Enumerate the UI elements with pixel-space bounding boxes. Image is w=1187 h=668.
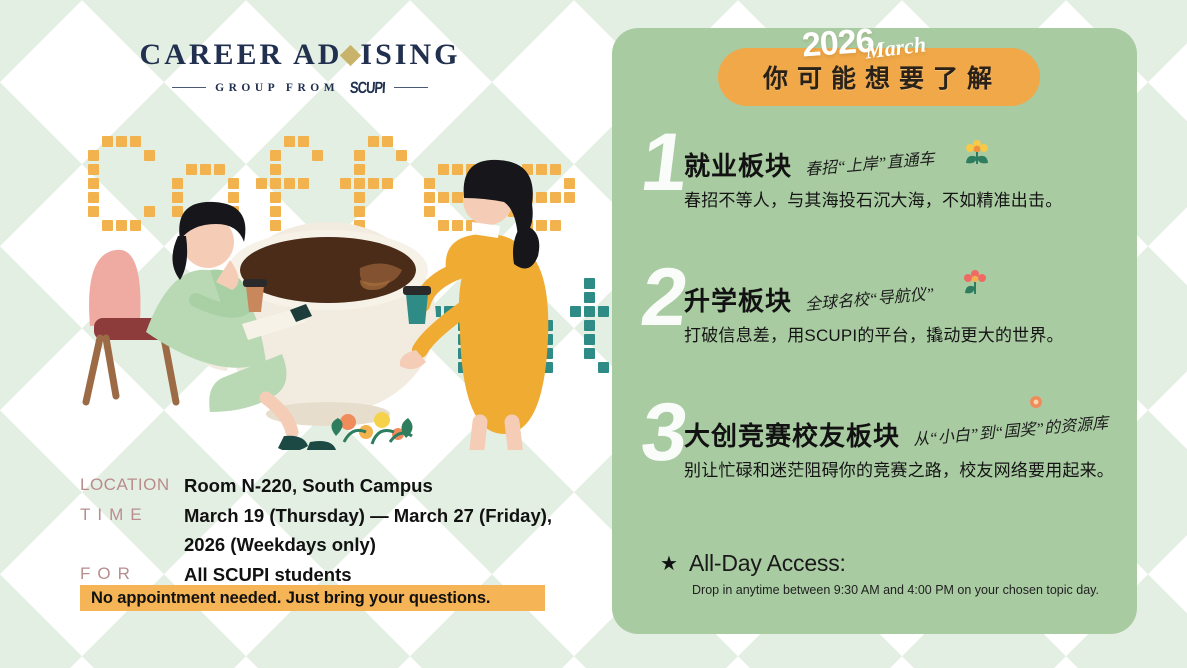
left-column: CAREER AD ISING GROUP FROM SCUPI [0,0,600,668]
info-label-location: LOCATION [80,472,184,498]
topic-title-3: 大创竞赛校友板块 [684,416,900,453]
logo-wordmark: CAREER AD ISING [140,38,461,72]
topic-desc-3: 别让忙碌和迷茫阻碍你的竞赛之路，校友网络要用起来。 [684,456,1114,481]
topic-head-1: 就业板块 春招“上岸”直通车 [684,146,936,183]
logo-text-right: ISING [360,38,460,72]
logo-subtitle: GROUP FROM [215,82,339,94]
red-flower-icon [962,269,988,295]
brand-logo: CAREER AD ISING GROUP FROM SCUPI [0,38,600,95]
info-value-time: March 19 (Thursday) — March 27 (Friday),… [184,502,580,559]
panel-title: 你可能想要了解 [763,59,1001,95]
topic-tag-3: 从“小白”到“国奖”的资源库 [912,409,1109,450]
topic-head-3: 大创竞赛校友板块 从“小白”到“国奖”的资源库 [684,416,1110,453]
logo-subtitle-row: GROUP FROM SCUPI [0,80,600,95]
divider-left [172,87,206,88]
diamond-icon [340,44,361,65]
access-title-row: ★ All-Day Access: [660,550,1110,577]
event-info: LOCATION Room N-220, South Campus TIME M… [80,472,580,591]
logo-text-left: CAREER AD [140,38,343,72]
info-row-time: TIME March 19 (Thursday) — March 27 (Fri… [80,502,580,559]
info-label-time: TIME [80,502,184,528]
scupi-logo: SCUPI [350,78,386,97]
divider-right [394,87,428,88]
note-text: No appointment needed. Just bring your q… [91,589,490,608]
topics-panel: 你可能想要了解 2026 March 1 就业板块 春招“上岸”直通车 春招不等… [612,28,1137,634]
coffee-chat-illustration [60,150,580,450]
access-title: All-Day Access: [689,550,846,577]
topic-desc-2: 打破信息差，用SCUPI的平台，撬动更大的世界。 [684,321,1064,346]
all-day-access: ★ All-Day Access: Drop in anytime betwee… [660,550,1110,597]
topic-tag-1: 春招“上岸”直通车 [804,145,935,180]
info-row-location: LOCATION Room N-220, South Campus [80,472,580,500]
no-appointment-note: No appointment needed. Just bring your q… [80,585,545,611]
info-label-for: FOR [80,561,184,587]
topic-desc-1: 春招不等人，与其海投石沉大海，不如精准出击。 [684,186,1062,211]
star-icon: ★ [660,554,678,574]
topic-title-2: 升学板块 [684,281,792,318]
topic-tag-2: 全球名校“导航仪” [804,280,935,315]
access-subtitle: Drop in anytime between 9:30 AM and 4:00… [692,583,1110,597]
topic-head-2: 升学板块 全球名校“导航仪” [684,281,936,318]
info-value-location: Room N-220, South Campus [184,472,433,500]
orange-dot-flower-icon [1028,394,1044,410]
topic-title-1: 就业板块 [684,146,792,183]
yellow-flower-icon [964,140,990,166]
